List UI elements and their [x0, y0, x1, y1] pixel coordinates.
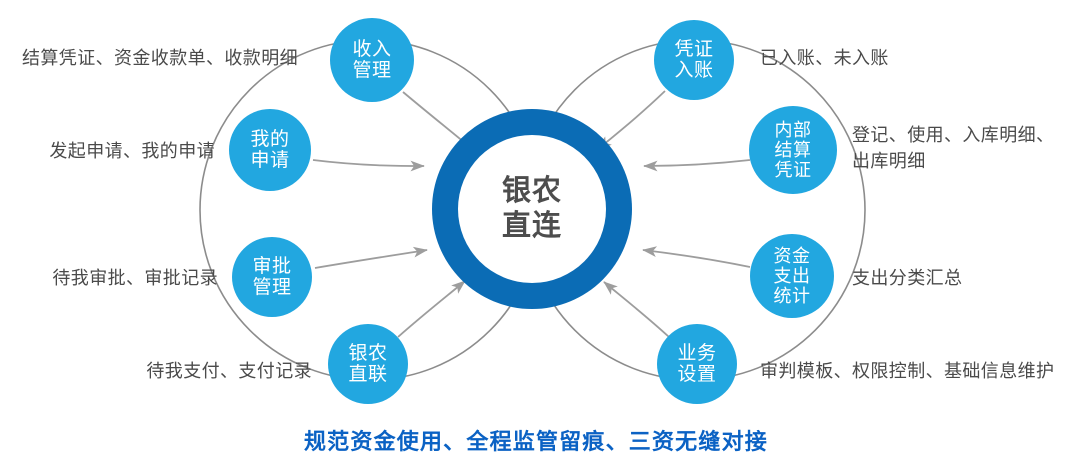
center-hub-title: 银农 直连: [502, 174, 562, 245]
node-expenditure-statistics[interactable]: 资金 支出 统计: [750, 234, 834, 318]
arrow-voucher-entry: [598, 91, 665, 149]
label-business-settings-desc: 审判模板、权限控制、基础信息维护: [760, 358, 1072, 384]
arrow-my-application: [313, 160, 424, 166]
arrow-approval-management: [315, 250, 427, 268]
node-approval-management[interactable]: 审批 管理: [232, 237, 312, 317]
arrow-bank-direct-link: [398, 281, 465, 337]
node-business-settings[interactable]: 业务 设置: [657, 324, 737, 404]
label-my-application-desc: 发起申请、我的申请: [0, 138, 215, 164]
arrow-expenditure-statistics: [643, 250, 750, 267]
label-expenditure-statistics-desc: 支出分类汇总: [852, 265, 1072, 291]
label-bank-direct-link-desc: 待我支付、支付记录: [0, 358, 312, 384]
node-bank-direct-link[interactable]: 银农 直联: [328, 324, 408, 404]
label-internal-settlement-desc: 登记、使用、入库明细、 出库明细: [852, 122, 1072, 174]
node-internal-settlement[interactable]: 内部 结算 凭证: [749, 106, 837, 194]
node-my-application[interactable]: 我的 申请: [229, 109, 311, 191]
center-hub: 银农 直连: [432, 109, 632, 309]
arrow-internal-settlement: [644, 160, 750, 166]
node-income-management[interactable]: 收入 管理: [330, 18, 414, 102]
label-voucher-entry-desc: 已入账、未入账: [760, 45, 1060, 71]
center-hub-inner: 银农 直连: [458, 135, 606, 283]
diagram-caption: 规范资金使用、全程监管留痕、三资无缝对接: [0, 424, 1072, 456]
label-income-management-desc: 结算凭证、资金收款单、收款明细: [0, 45, 298, 71]
label-approval-management-desc: 待我审批、审批记录: [0, 265, 218, 291]
node-voucher-entry[interactable]: 凭证 入账: [654, 20, 734, 100]
diagram-canvas: 银农 直连 收入 管理我的 申请审批 管理银农 直联凭证 入账内部 结算 凭证资…: [0, 0, 1072, 471]
arrow-business-settings: [604, 282, 669, 337]
